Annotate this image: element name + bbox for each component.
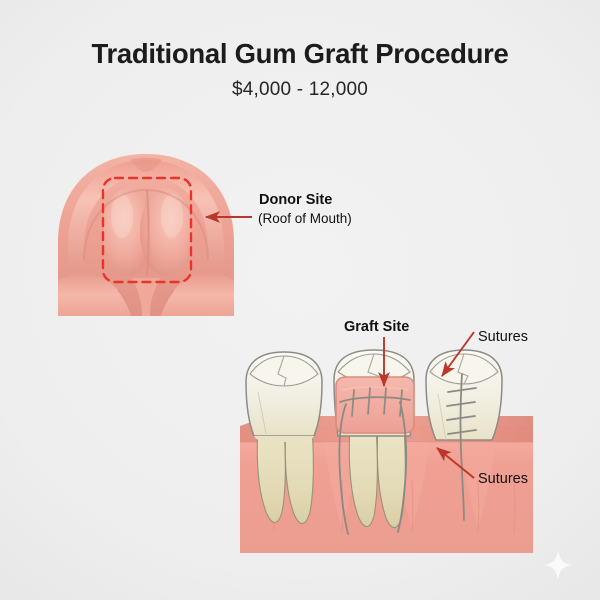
tooth-left: [246, 352, 322, 442]
sparkle-icon: [543, 549, 573, 581]
sutures-top-label: Sutures: [478, 329, 528, 345]
palate-tissue-group: [58, 154, 234, 316]
roof-of-mouth-illustration: [56, 150, 236, 316]
graft-site-label: Graft Site: [344, 319, 409, 335]
donor-site-label: Donor Site: [259, 192, 332, 208]
palate-highlight-left: [111, 194, 133, 238]
sutures-bottom-label: Sutures: [478, 471, 528, 487]
page-title: Traditional Gum Graft Procedure: [0, 38, 600, 70]
donor-site-sublabel: (Roof of Mouth): [258, 211, 352, 226]
gum-striation-3: [412, 480, 413, 532]
gum-striation-4: [478, 480, 479, 532]
gum-graft-teeth-cross-section: [228, 330, 540, 558]
graft-tissue-patch: [336, 377, 414, 433]
price-range-subtitle: $4,000 - 12,000: [0, 79, 600, 101]
illustration-canvas: Traditional Gum Graft Procedure $4,000 -…: [0, 0, 600, 600]
